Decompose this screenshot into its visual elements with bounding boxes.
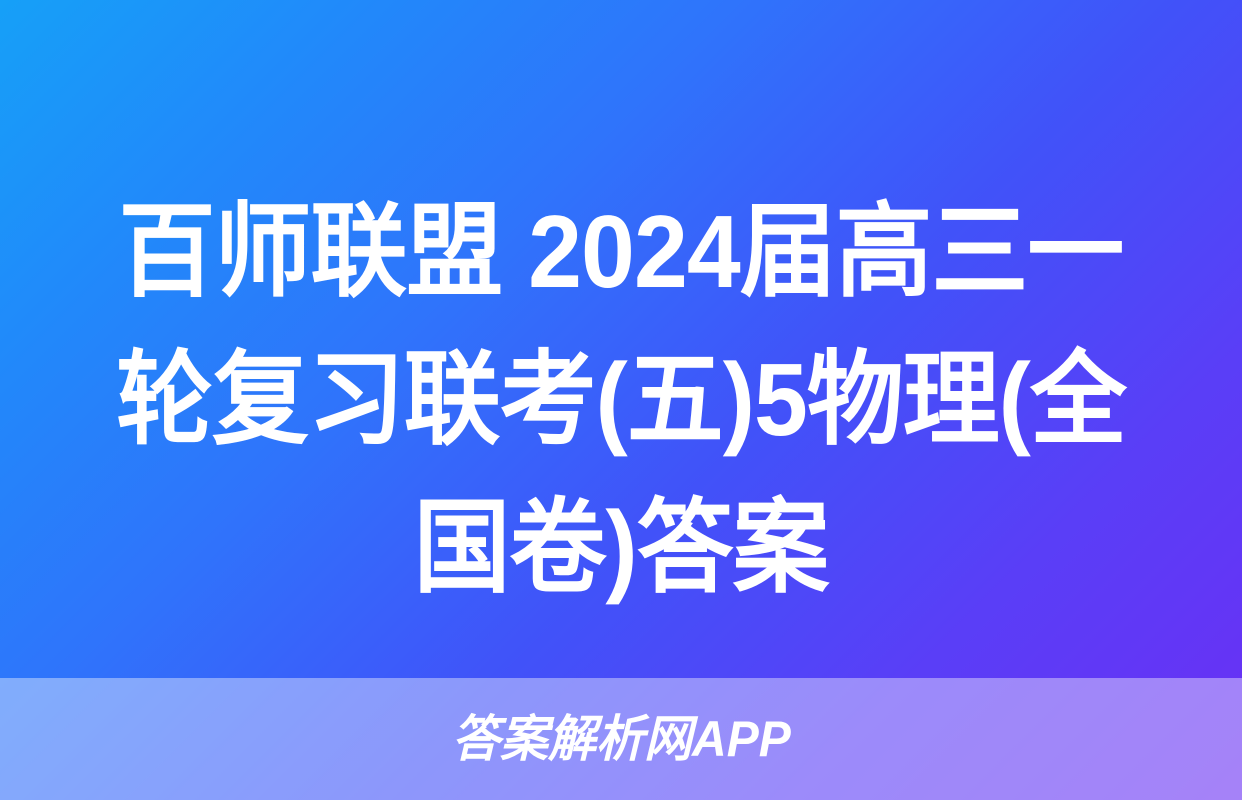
poster-canvas: 百师联盟 2024届高三一 轮复习联考(五)5物理(全 国卷)答案 答案解析网A… xyxy=(0,0,1242,800)
title-line-2: 轮复习联考(五)5物理(全 xyxy=(105,326,1137,474)
footer-brand-band: 答案解析网APP xyxy=(0,678,1242,800)
brand-label: 答案解析网APP xyxy=(452,711,791,767)
page-title: 百师联盟 2024届高三一 轮复习联考(五)5物理(全 国卷)答案 xyxy=(0,178,1242,622)
title-line-3: 国卷)答案 xyxy=(105,474,1137,622)
title-line-1: 百师联盟 2024届高三一 xyxy=(105,178,1137,326)
